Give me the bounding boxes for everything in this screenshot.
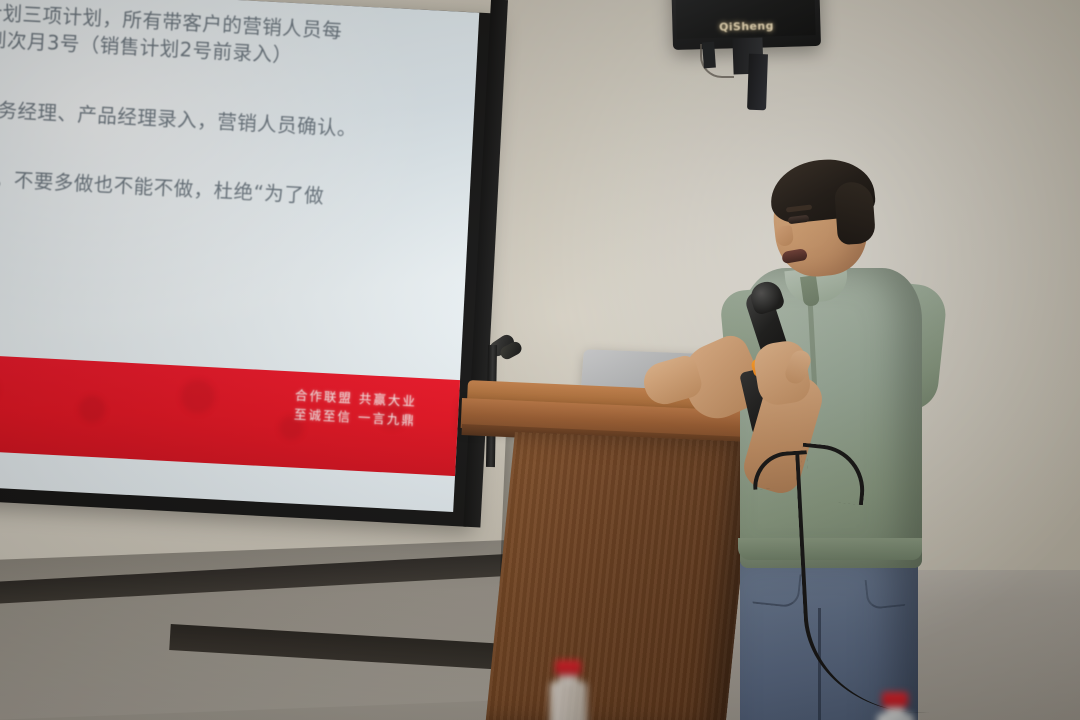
- conference-presentation-photo: 划、推进计划三项计划，所有带客户的营销人员每 月底25号到次月3号（销售计划2号…: [0, 0, 1080, 720]
- bottle-cap: [555, 660, 581, 675]
- tv-mount-arm: [747, 54, 768, 111]
- bottle-body: [550, 681, 587, 720]
- jeans-pocket-left: [752, 570, 801, 609]
- slide-text-block: 划、推进计划三项计划，所有带客户的营销人员每 月底25号到次月3号（销售计划2号…: [0, 0, 463, 216]
- slide-line-3: 划分别由财务经理、产品经理录入，营销人员确认。: [0, 93, 458, 146]
- bottle-cap: [882, 692, 908, 707]
- tv-mount-arm-left: [702, 42, 716, 69]
- projection-screen-surface: 划、推进计划三项计划，所有带客户的营销人员每 月底25号到次月3号（销售计划2号…: [0, 0, 479, 512]
- water-bottle: [876, 692, 918, 720]
- projection-screen: 划、推进计划三项计划，所有带客户的营销人员每 月底25号到次月3号（销售计划2号…: [0, 0, 493, 527]
- water-bottle: [549, 660, 589, 720]
